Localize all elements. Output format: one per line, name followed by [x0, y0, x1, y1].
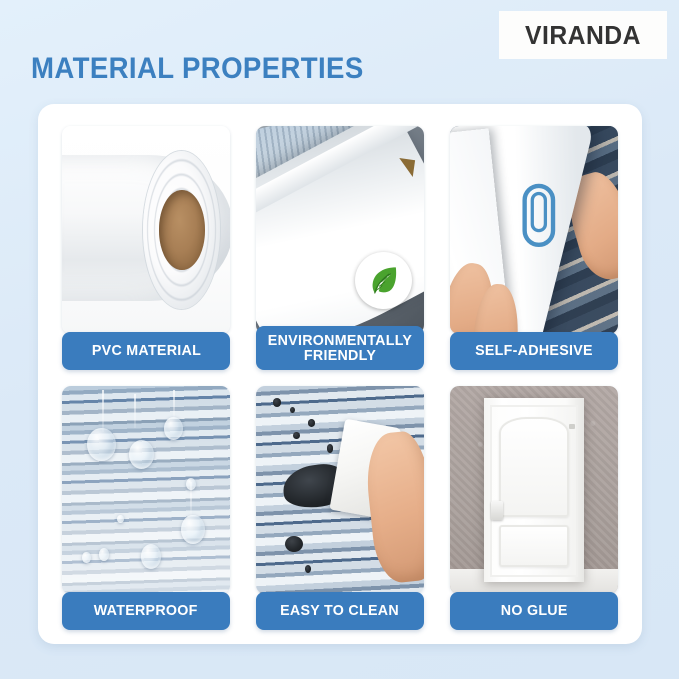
feature-card-waterproof[interactable]: WATERPROOF: [52, 378, 240, 630]
features-panel: PVC MATERIAL: [38, 104, 642, 644]
feature-label-no-glue: NO GLUE: [450, 592, 618, 630]
feature-label-text-line2: FRIENDLY: [268, 348, 412, 363]
infographic-page: VIRANDA MATERIAL PROPERTIES PVC MATERIAL: [0, 0, 679, 679]
feature-image-no-glue: [450, 386, 618, 594]
feature-card-environmentally-friendly[interactable]: ENVIRONMENTALLY FRIENDLY: [246, 118, 434, 370]
features-grid: PVC MATERIAL: [52, 118, 628, 630]
brand-badge: VIRANDA: [499, 11, 667, 59]
feature-image-self-adhesive: [450, 126, 618, 334]
paperclip-icon: [517, 180, 561, 251]
feature-image-waterproof: [62, 386, 230, 594]
feature-label-environmentally-friendly: ENVIRONMENTALLY FRIENDLY: [256, 326, 424, 370]
feature-label-waterproof: WATERPROOF: [62, 592, 230, 630]
feature-label-self-adhesive: SELF-ADHESIVE: [450, 332, 618, 370]
feature-label-text: WATERPROOF: [94, 603, 198, 618]
feature-label-text: EASY TO CLEAN: [281, 603, 400, 618]
feature-card-no-glue[interactable]: NO GLUE: [440, 378, 628, 630]
feature-label-text: SELF-ADHESIVE: [475, 343, 593, 358]
feature-card-pvc-material[interactable]: PVC MATERIAL: [52, 118, 240, 370]
feature-label-easy-to-clean: EASY TO CLEAN: [256, 592, 424, 630]
feature-card-self-adhesive[interactable]: SELF-ADHESIVE: [440, 118, 628, 370]
brand-name: VIRANDA: [525, 20, 641, 51]
leaf-icon: [355, 252, 412, 309]
feature-image-easy-to-clean: [256, 386, 424, 594]
page-title: MATERIAL PROPERTIES: [31, 52, 364, 86]
feature-label-text: NO GLUE: [501, 603, 568, 618]
feature-card-easy-to-clean[interactable]: EASY TO CLEAN: [246, 378, 434, 630]
feature-label-pvc-material: PVC MATERIAL: [62, 332, 230, 370]
feature-label-text: PVC MATERIAL: [91, 343, 200, 358]
feature-image-environmentally-friendly: [256, 126, 424, 334]
feature-image-pvc-material: [62, 126, 230, 334]
feature-label-text-line1: ENVIRONMENTALLY: [268, 333, 412, 348]
